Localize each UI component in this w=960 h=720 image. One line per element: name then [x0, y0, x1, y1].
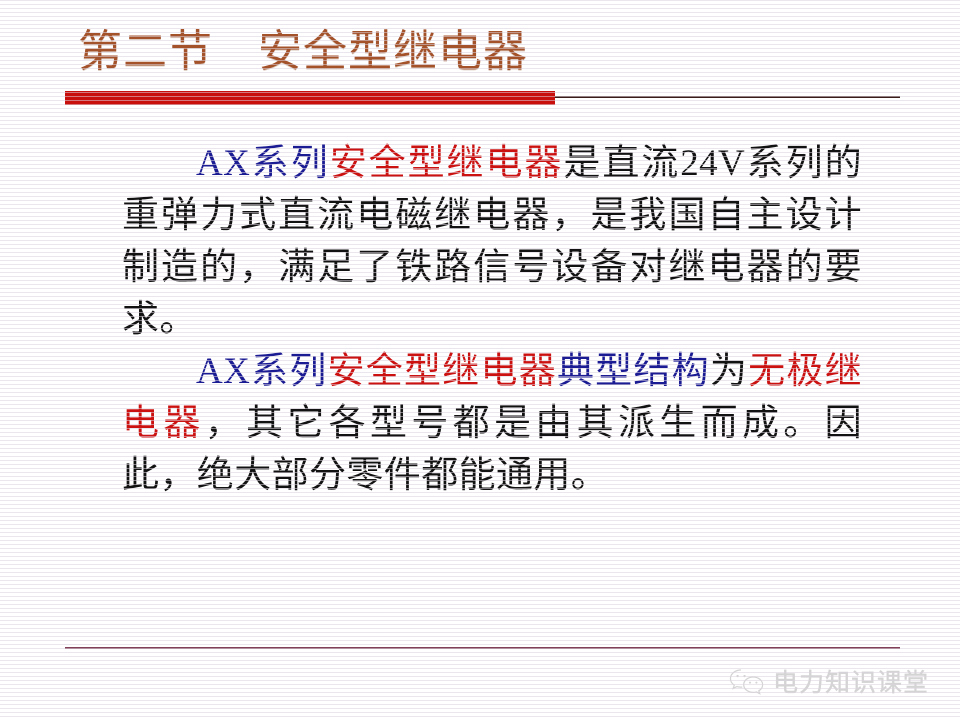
watermark: 电力知识课堂	[728, 662, 936, 704]
run-2-6: ，其它各型号都是由其派生而成。因此，绝大部分零件都能通用。	[122, 403, 862, 496]
slide-body: AX系列安全型继电器是直流24V系列的重弹力式直流电磁继电器，是我国自主设计制造…	[122, 138, 862, 502]
run-2-1: AX系列	[196, 351, 328, 392]
body-paragraph-2: AX系列安全型继电器典型结构为无极继电器，其它各型号都是由其派生而成。因此，绝大…	[122, 346, 862, 502]
run-2-4: 为	[710, 351, 748, 392]
slide-title-block: 第二节 安全型继电器	[0, 0, 960, 112]
run-1-1: AX系列	[196, 143, 330, 184]
run-2-3: 典型结构	[557, 351, 710, 392]
body-paragraph-1: AX系列安全型继电器是直流24V系列的重弹力式直流电磁继电器，是我国自主设计制造…	[122, 138, 862, 346]
title-divider-thick-bar	[65, 91, 555, 105]
page-title: 第二节 安全型继电器	[78, 24, 528, 80]
run-2-2: 安全型继电器	[328, 351, 557, 392]
title-divider-thin-line	[555, 96, 900, 98]
run-1-2: 安全型继电器	[330, 143, 564, 184]
watermark-text: 电力知识课堂	[773, 668, 929, 698]
presentation-slide: 第二节 安全型继电器 AX系列安全型继电器是直流24V系列的重弹力式直流电磁继电…	[0, 0, 960, 720]
footer-divider	[65, 647, 900, 649]
title-divider	[65, 91, 900, 105]
wechat-icon	[728, 667, 766, 699]
